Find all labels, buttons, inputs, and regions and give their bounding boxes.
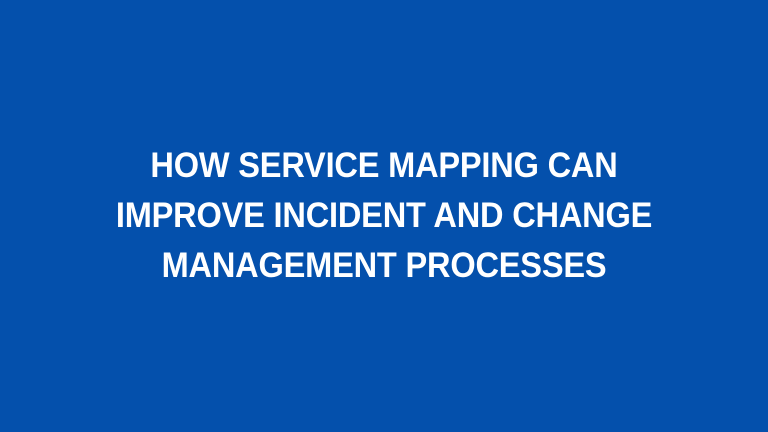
page-title: HOW SERVICE MAPPING CAN IMPROVE INCIDENT… (34, 141, 734, 291)
title-line-3: MANAGEMENT PROCESSES (59, 241, 710, 291)
title-line-1: HOW SERVICE MAPPING CAN (59, 141, 710, 191)
title-line-2: IMPROVE INCIDENT AND CHANGE (59, 191, 710, 241)
title-card: HOW SERVICE MAPPING CAN IMPROVE INCIDENT… (0, 0, 768, 432)
